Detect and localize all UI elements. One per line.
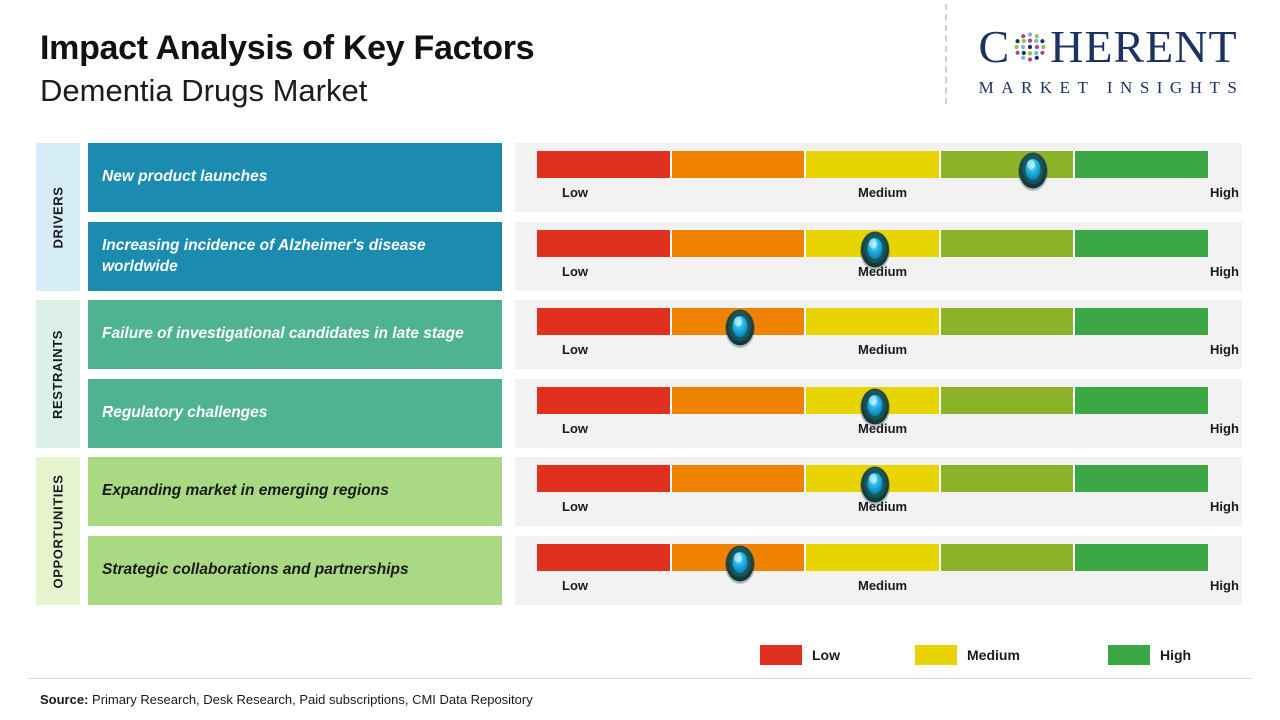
factor-box[interactable]: Expanding market in emerging regions xyxy=(88,457,502,526)
gauge-scale-labels: Low Medium High xyxy=(537,185,1252,205)
legend-label-high: High xyxy=(1160,647,1191,663)
page-subtitle: Dementia Drugs Market xyxy=(40,72,534,110)
legend: Low Medium High xyxy=(760,645,1200,669)
gauge-segment-mid xyxy=(806,387,941,414)
gauge-segment-mid-high xyxy=(941,151,1076,178)
logo-letters-herent: HERENT xyxy=(1050,24,1237,70)
gauge-bar xyxy=(537,151,1208,178)
gauge-segment-low xyxy=(537,465,672,492)
footer-divider xyxy=(28,678,1252,679)
gauge-bar xyxy=(537,544,1208,571)
scale-label-medium: Medium xyxy=(858,421,907,436)
table-row: Expanding market in emerging regions xyxy=(0,457,1280,526)
gauge-segment-high xyxy=(1075,387,1208,414)
factor-label: Strategic collaborations and partnership… xyxy=(102,560,409,580)
impact-gauge: Low Medium High xyxy=(515,222,1242,291)
scale-label-high: High xyxy=(1210,421,1239,436)
header-dashed-divider xyxy=(945,4,947,104)
gauge-segment-mid-high xyxy=(941,465,1076,492)
gauge-segment-low-mid xyxy=(672,230,807,257)
header: Impact Analysis of Key Factors Dementia … xyxy=(0,0,1280,130)
gauge-segment-low xyxy=(537,308,672,335)
gauge-segment-low-mid xyxy=(672,465,807,492)
scale-label-low: Low xyxy=(562,421,588,436)
factor-label: Increasing incidence of Alzheimer's dise… xyxy=(102,236,488,277)
table-row: Regulatory challenges xyxy=(0,379,1280,448)
page-title: Impact Analysis of Key Factors xyxy=(40,28,534,68)
scale-label-medium: Medium xyxy=(858,578,907,593)
gauge-segment-high xyxy=(1075,308,1208,335)
source-text: Primary Research, Desk Research, Paid su… xyxy=(88,692,532,707)
scale-label-low: Low xyxy=(562,264,588,279)
legend-item-medium: Medium xyxy=(915,645,1020,665)
gauge-segment-low xyxy=(537,151,672,178)
table-row: Increasing incidence of Alzheimer's dise… xyxy=(0,222,1280,291)
gauge-segment-low-mid xyxy=(672,387,807,414)
gauge-scale-labels: Low Medium High xyxy=(537,264,1252,284)
scale-label-medium: Medium xyxy=(858,264,907,279)
gauge-scale-labels: Low Medium High xyxy=(537,342,1252,362)
source-note: Source: Primary Research, Desk Research,… xyxy=(40,692,533,707)
impact-gauge: Low Medium High xyxy=(515,457,1242,526)
factor-box[interactable]: Failure of investigational candidates in… xyxy=(88,300,502,369)
factor-box[interactable]: New product launches xyxy=(88,143,502,212)
legend-label-low: Low xyxy=(812,647,840,663)
gauge-segment-mid xyxy=(806,308,941,335)
logo-tagline: MARKET INSIGHTS xyxy=(958,78,1258,98)
gauge-segment-high xyxy=(1075,230,1208,257)
scale-label-medium: Medium xyxy=(858,342,907,357)
gauge-scale-labels: Low Medium High xyxy=(537,421,1252,441)
scale-label-low: Low xyxy=(562,185,588,200)
scale-label-high: High xyxy=(1210,499,1239,514)
table-row: New product launches xyxy=(0,143,1280,212)
impact-gauge: Low Medium High xyxy=(515,536,1242,605)
factor-label: Expanding market in emerging regions xyxy=(102,481,389,501)
gauge-segment-mid xyxy=(806,151,941,178)
scale-label-low: Low xyxy=(562,499,588,514)
scale-label-medium: Medium xyxy=(858,499,907,514)
factor-label: Failure of investigational candidates in… xyxy=(102,324,464,344)
scale-label-high: High xyxy=(1210,264,1239,279)
gauge-segment-low xyxy=(537,387,672,414)
gauge-segment-low-mid xyxy=(672,308,807,335)
gauge-bar xyxy=(537,387,1208,414)
gauge-segment-high xyxy=(1075,465,1208,492)
gauge-segment-low-mid xyxy=(672,544,807,571)
gauge-bar xyxy=(537,308,1208,335)
gauge-segment-mid xyxy=(806,465,941,492)
gauge-segment-low xyxy=(537,230,672,257)
legend-swatch-high xyxy=(1108,645,1150,665)
table-row: Strategic collaborations and partnership… xyxy=(0,536,1280,605)
legend-swatch-medium xyxy=(915,645,957,665)
gauge-bar xyxy=(537,465,1208,492)
legend-item-low: Low xyxy=(760,645,840,665)
scale-label-high: High xyxy=(1210,578,1239,593)
gauge-segment-mid xyxy=(806,544,941,571)
gauge-segment-low xyxy=(537,544,672,571)
factor-box[interactable]: Increasing incidence of Alzheimer's dise… xyxy=(88,222,502,291)
logo-letter-c: C xyxy=(978,24,1010,70)
source-label: Source: xyxy=(40,692,88,707)
legend-item-high: High xyxy=(1108,645,1191,665)
gauge-segment-high xyxy=(1075,544,1208,571)
impact-gauge: Low Medium High xyxy=(515,300,1242,369)
legend-label-medium: Medium xyxy=(967,647,1020,663)
gauge-segment-mid-high xyxy=(941,387,1076,414)
impact-gauge: Low Medium High xyxy=(515,379,1242,448)
gauge-segment-mid-high xyxy=(941,544,1076,571)
gauge-segment-mid-high xyxy=(941,308,1076,335)
factor-label: New product launches xyxy=(102,167,267,187)
logo-wordmark: C xyxy=(958,22,1258,72)
scale-label-medium: Medium xyxy=(858,185,907,200)
gauge-segment-mid-high xyxy=(941,230,1076,257)
company-logo: C xyxy=(958,22,1258,98)
gauge-segment-low-mid xyxy=(672,151,807,178)
gauge-bar xyxy=(537,230,1208,257)
factor-box[interactable]: Strategic collaborations and partnership… xyxy=(88,536,502,605)
impact-gauge: Low Medium High xyxy=(515,143,1242,212)
table-row: Failure of investigational candidates in… xyxy=(0,300,1280,369)
scale-label-high: High xyxy=(1210,342,1239,357)
gauge-segment-high xyxy=(1075,151,1208,178)
gauge-scale-labels: Low Medium High xyxy=(537,578,1252,598)
gauge-segment-mid xyxy=(806,230,941,257)
scale-label-high: High xyxy=(1210,185,1239,200)
slide: Impact Analysis of Key Factors Dementia … xyxy=(0,0,1280,720)
factor-box[interactable]: Regulatory challenges xyxy=(88,379,502,448)
scale-label-low: Low xyxy=(562,342,588,357)
gauge-scale-labels: Low Medium High xyxy=(537,499,1252,519)
legend-swatch-low xyxy=(760,645,802,665)
scale-label-low: Low xyxy=(562,578,588,593)
globe-dots-icon xyxy=(1011,28,1049,66)
title-block: Impact Analysis of Key Factors Dementia … xyxy=(40,28,534,110)
factor-label: Regulatory challenges xyxy=(102,403,267,423)
